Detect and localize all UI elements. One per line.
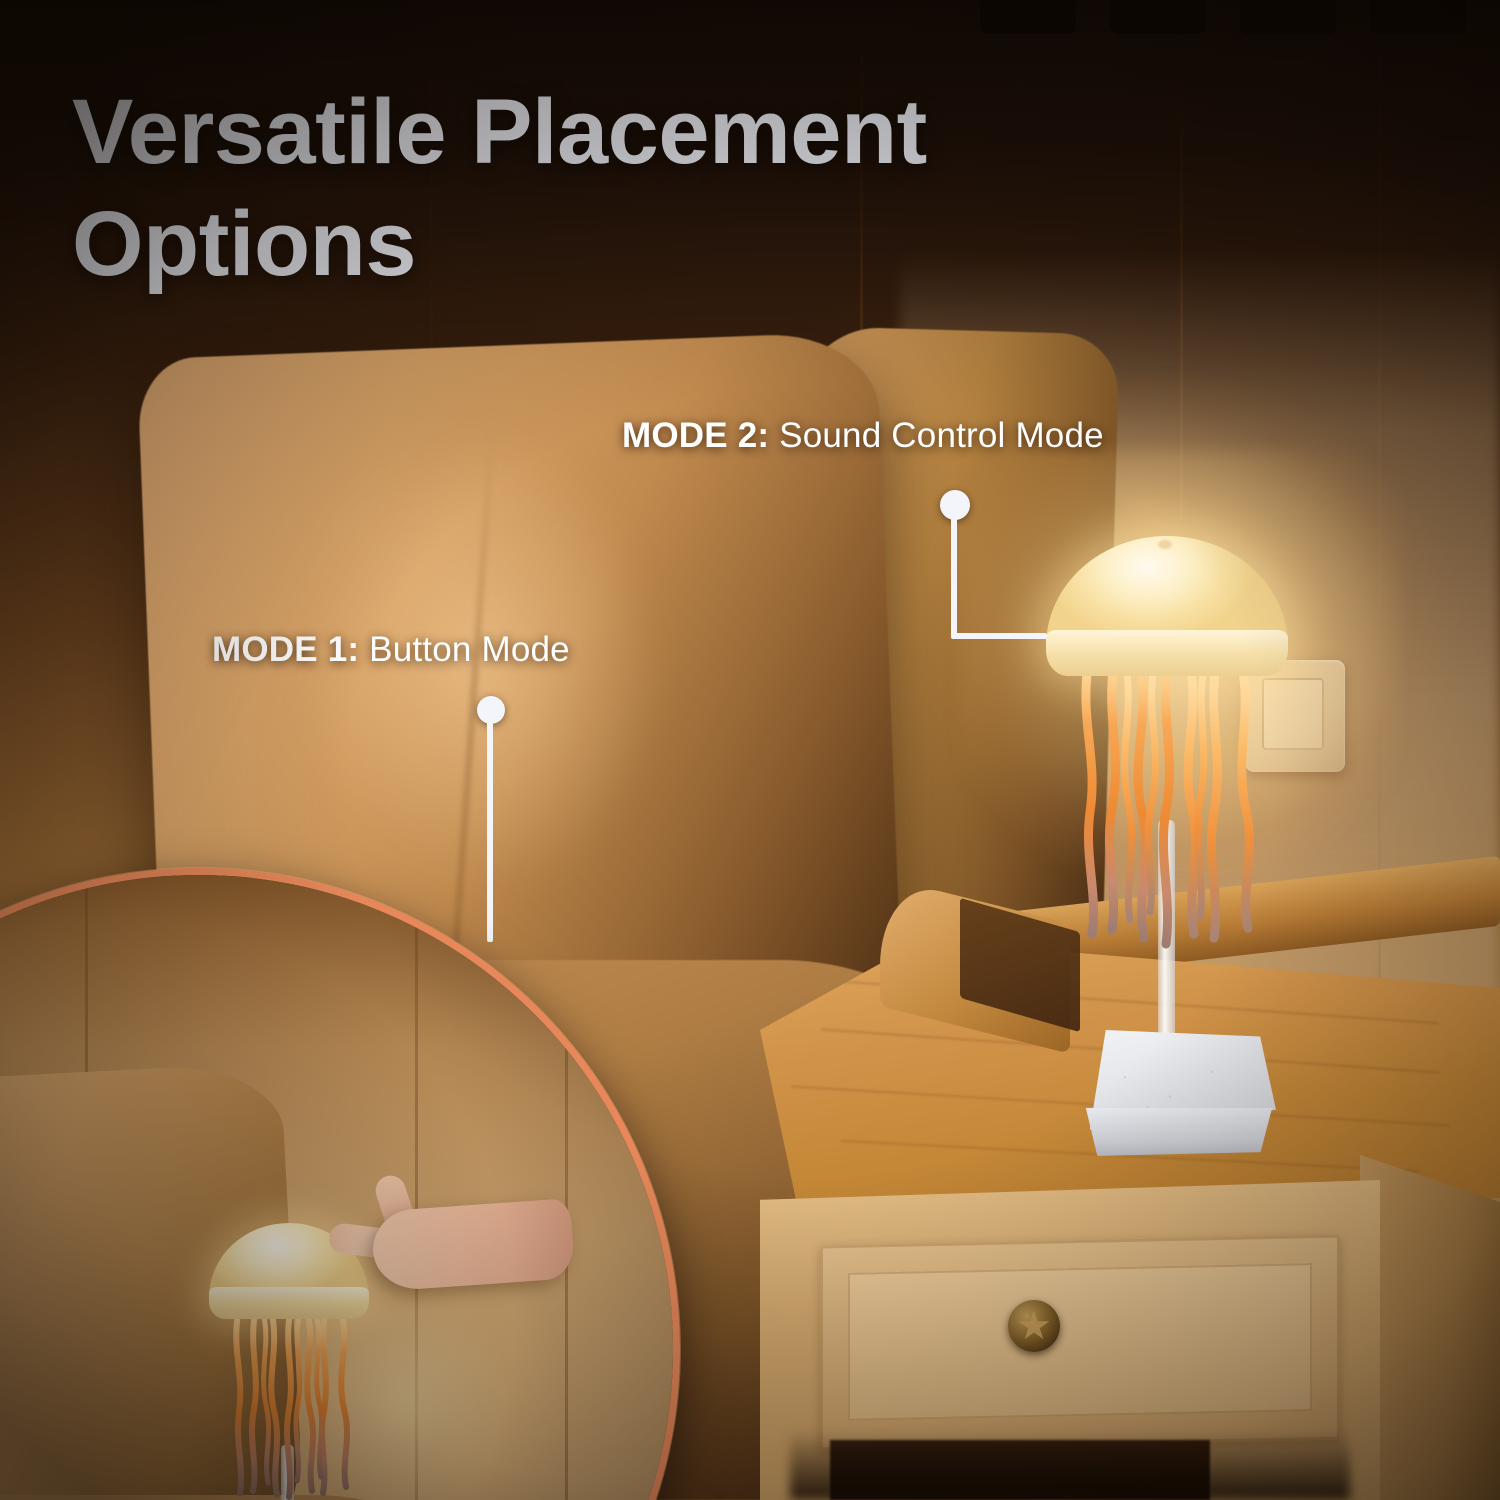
inset-lamp-dome-lip [209,1287,369,1319]
lamp-dome-lip [1046,630,1288,676]
lamp-tentacles [1078,662,1268,962]
mode-1-prefix: MODE 1: [212,630,359,669]
callout-line-mode-2-horizontal [951,633,1047,639]
tentacles-svg [1078,662,1268,962]
inset-hand [370,1198,575,1292]
headline-line-2: Options [72,188,1352,300]
inset-lamp-tentacles [231,1311,353,1500]
ceiling-strip [0,0,1500,60]
page-title: Versatile Placement Options [72,76,1352,300]
nightstand-side-panel [1360,1155,1500,1500]
inset-tentacles-svg [231,1311,353,1500]
callout-label-mode-2: MODE 2: Sound Control Mode [622,416,1104,456]
lamp-base-front [1082,1108,1274,1156]
product-marketing-image: MODE 2: Sound Control Mode MODE 1: Butto… [0,0,1500,1500]
inset-scene [0,875,673,1500]
callout-label-mode-1: MODE 1: Button Mode [212,630,570,670]
nightstand-shadow [790,1430,1350,1500]
nightstand-drawer-inset [848,1263,1312,1421]
pillow-highlight [287,409,734,950]
mode-1-inset-circle [0,868,680,1500]
mode-1-text: Button Mode [359,630,570,669]
lamp-dome-nub [1158,540,1172,549]
mode-2-text: Sound Control Mode [769,416,1104,455]
mode-2-prefix: MODE 2: [622,416,769,455]
callout-line-mode-2-vertical [951,516,957,638]
headline-line-1: Versatile Placement [72,76,1352,188]
